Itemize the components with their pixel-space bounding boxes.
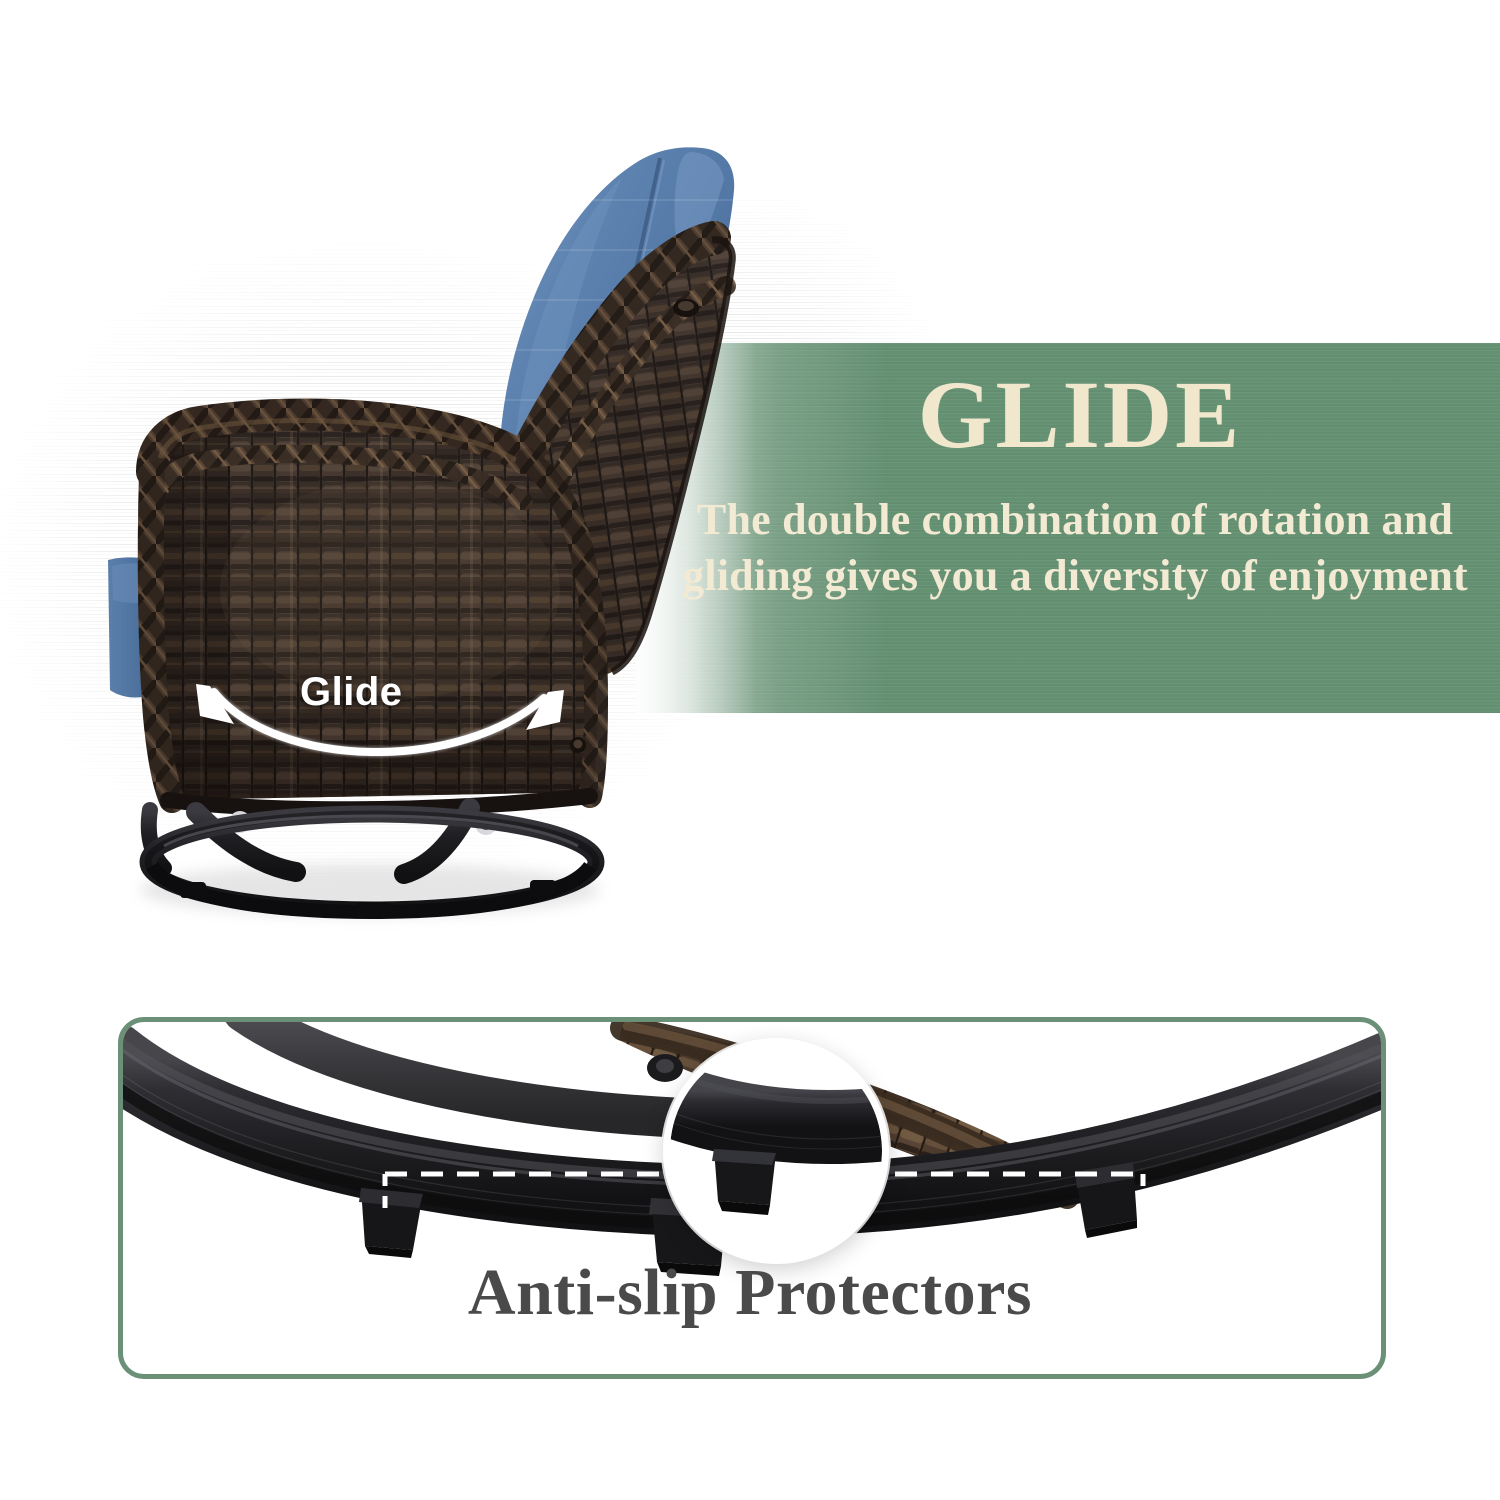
swivel-glider-base	[140, 808, 600, 918]
infographic-canvas: Glide GLIDE The double combination of ro…	[0, 0, 1500, 1500]
protector-magnifier-circle	[663, 1038, 889, 1264]
side-shell-fasteners	[570, 737, 586, 753]
seat-bolt	[647, 1054, 683, 1082]
glide-panel-description: The double combination of rotation and g…	[680, 492, 1470, 604]
swivel-glider-chair-image: Glide	[0, 0, 760, 1000]
backrest-fastener	[673, 299, 699, 317]
anti-slip-protectors-title: Anti-slip Protectors	[0, 1255, 1500, 1331]
glide-panel-title: GLIDE	[636, 367, 1500, 463]
glide-motion-label: Glide	[300, 670, 403, 715]
glide-feature-section: Glide GLIDE The double combination of ro…	[0, 0, 1500, 1000]
chair-svg	[0, 0, 760, 1000]
magnifier-content-svg	[670, 1045, 882, 1257]
protector-tab-left	[359, 1188, 423, 1258]
